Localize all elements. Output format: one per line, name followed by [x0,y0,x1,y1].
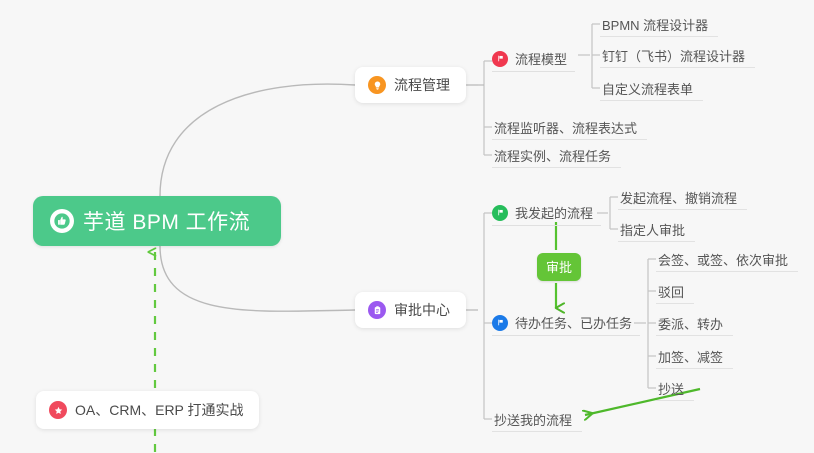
edge-root-to-process [160,84,355,196]
leaf-start-cancel-process[interactable]: 发起流程、撤销流程 [618,185,747,210]
clipboard-icon [368,301,386,319]
leaf-reject[interactable]: 驳回 [656,279,694,304]
leaf-label-process-listener: 流程监听器、流程表达式 [494,118,637,137]
leaf-label-bpmn-designer: BPMN 流程设计器 [602,15,708,34]
callout-node-integration[interactable]: OA、CRM、ERP 打通实战 [36,391,259,429]
root-node[interactable]: 芋道 BPM 工作流 [33,196,281,246]
bulb-icon [368,76,386,94]
flag-icon [492,51,508,67]
flag-icon [492,205,508,221]
root-label: 芋道 BPM 工作流 [83,206,250,236]
leaf-assignee-approval[interactable]: 指定人审批 [618,217,695,242]
topic-my-initiated[interactable]: 我发起的流程 [492,200,601,226]
branch-node-process-management[interactable]: 流程管理 [355,67,466,103]
topic-process-model[interactable]: 流程模型 [492,46,575,72]
flag-icon [492,315,508,331]
leaf-custom-form[interactable]: 自定义流程表单 [600,76,703,101]
leaf-cc-to-me[interactable]: 抄送我的流程 [492,407,582,432]
branch-node-approval-center[interactable]: 审批中心 [355,292,466,328]
leaf-delegate-transfer[interactable]: 委派、转办 [656,311,733,336]
approval-tag-badge[interactable]: 审批 [537,253,581,281]
topic-label-todo-done-tasks: 待办任务、已办任务 [515,313,632,332]
branch-label-process-management: 流程管理 [394,75,450,95]
leaf-label-process-instance: 流程实例、流程任务 [494,146,611,165]
topic-todo-done-tasks[interactable]: 待办任务、已办任务 [492,310,640,336]
leaf-cc[interactable]: 抄送 [656,376,694,401]
leaf-label-reject: 驳回 [658,282,684,301]
leaf-countersign[interactable]: 会签、或签、依次审批 [656,247,798,272]
topic-label-my-initiated: 我发起的流程 [515,203,593,222]
leaf-label-delegate-transfer: 委派、转办 [658,314,723,333]
leaf-bpmn-designer[interactable]: BPMN 流程设计器 [600,12,718,37]
leaf-label-cc-to-me: 抄送我的流程 [494,410,572,429]
leaf-label-custom-form: 自定义流程表单 [602,79,693,98]
branch-label-approval-center: 审批中心 [394,300,450,320]
leaf-process-instance[interactable]: 流程实例、流程任务 [492,143,621,168]
callout-label-integration: OA、CRM、ERP 打通实战 [75,400,244,420]
thumbs-up-icon [50,209,74,233]
edge-root-to-approval [160,246,355,311]
leaf-label-dingtalk-designer: 钉钉（飞书）流程设计器 [602,46,745,65]
star-icon [49,401,67,419]
leaf-label-start-cancel-process: 发起流程、撤销流程 [620,188,737,207]
leaf-label-cc: 抄送 [658,379,684,398]
leaf-dingtalk-designer[interactable]: 钉钉（飞书）流程设计器 [600,43,755,68]
leaf-add-remove-sign[interactable]: 加签、减签 [656,344,733,369]
leaf-label-assignee-approval: 指定人审批 [620,220,685,239]
topic-label-process-model: 流程模型 [515,49,567,68]
leaf-process-listener[interactable]: 流程监听器、流程表达式 [492,115,647,140]
approval-tag-label: 审批 [546,260,572,275]
mindmap-canvas: 芋道 BPM 工作流 流程管理 审批中心 [0,0,814,453]
leaf-label-add-remove-sign: 加签、减签 [658,347,723,366]
leaf-label-countersign: 会签、或签、依次审批 [658,250,788,269]
